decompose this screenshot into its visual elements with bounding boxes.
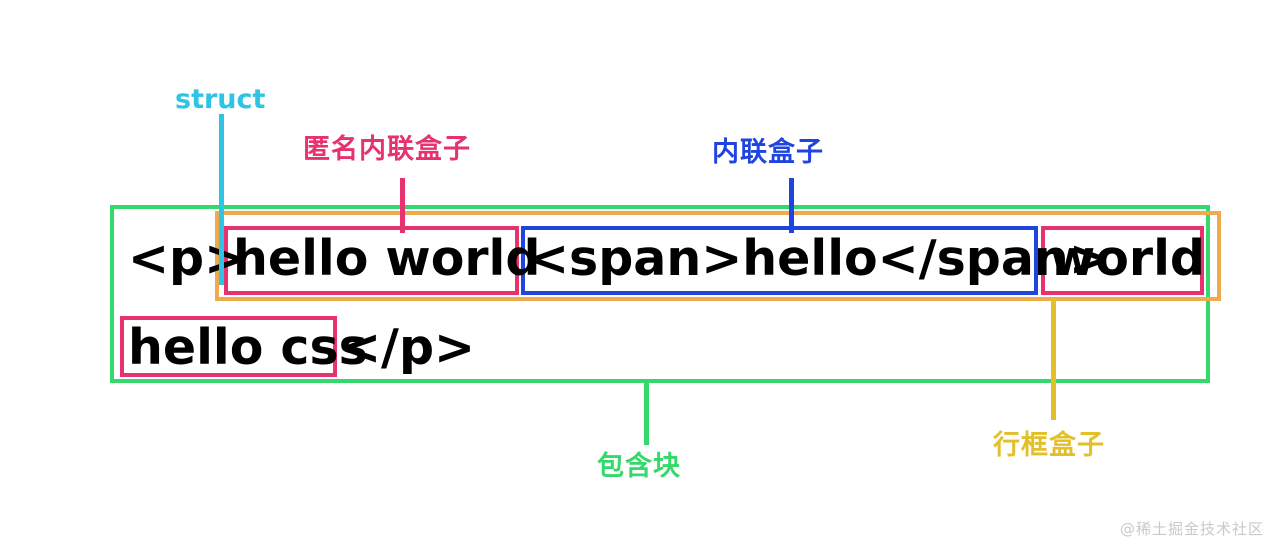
inline-box bbox=[521, 226, 1038, 295]
annotation-label-containing-block: 包含块 bbox=[597, 453, 681, 480]
leader-line-anonymous-inline-box bbox=[400, 178, 405, 233]
annotation-label-struct: struct bbox=[175, 86, 265, 113]
annotation-label-anonymous-inline-box: 匿名内联盒子 bbox=[303, 136, 471, 163]
leader-line-struct bbox=[219, 114, 224, 285]
anonymous-inline-box-1 bbox=[224, 226, 519, 295]
leader-line-containing-block bbox=[644, 382, 649, 445]
leader-line-line-box bbox=[1051, 298, 1056, 420]
anonymous-inline-box-2 bbox=[1041, 226, 1204, 295]
leader-line-inline-box bbox=[789, 178, 794, 233]
anonymous-inline-box-3 bbox=[120, 316, 337, 377]
diagram-canvas: <p> hello world <span>hello</span> world… bbox=[0, 0, 1280, 551]
annotation-label-line-box: 行框盒子 bbox=[993, 432, 1105, 459]
annotation-label-inline-box: 内联盒子 bbox=[712, 139, 824, 166]
watermark: @稀土掘金技术社区 bbox=[1120, 518, 1264, 539]
